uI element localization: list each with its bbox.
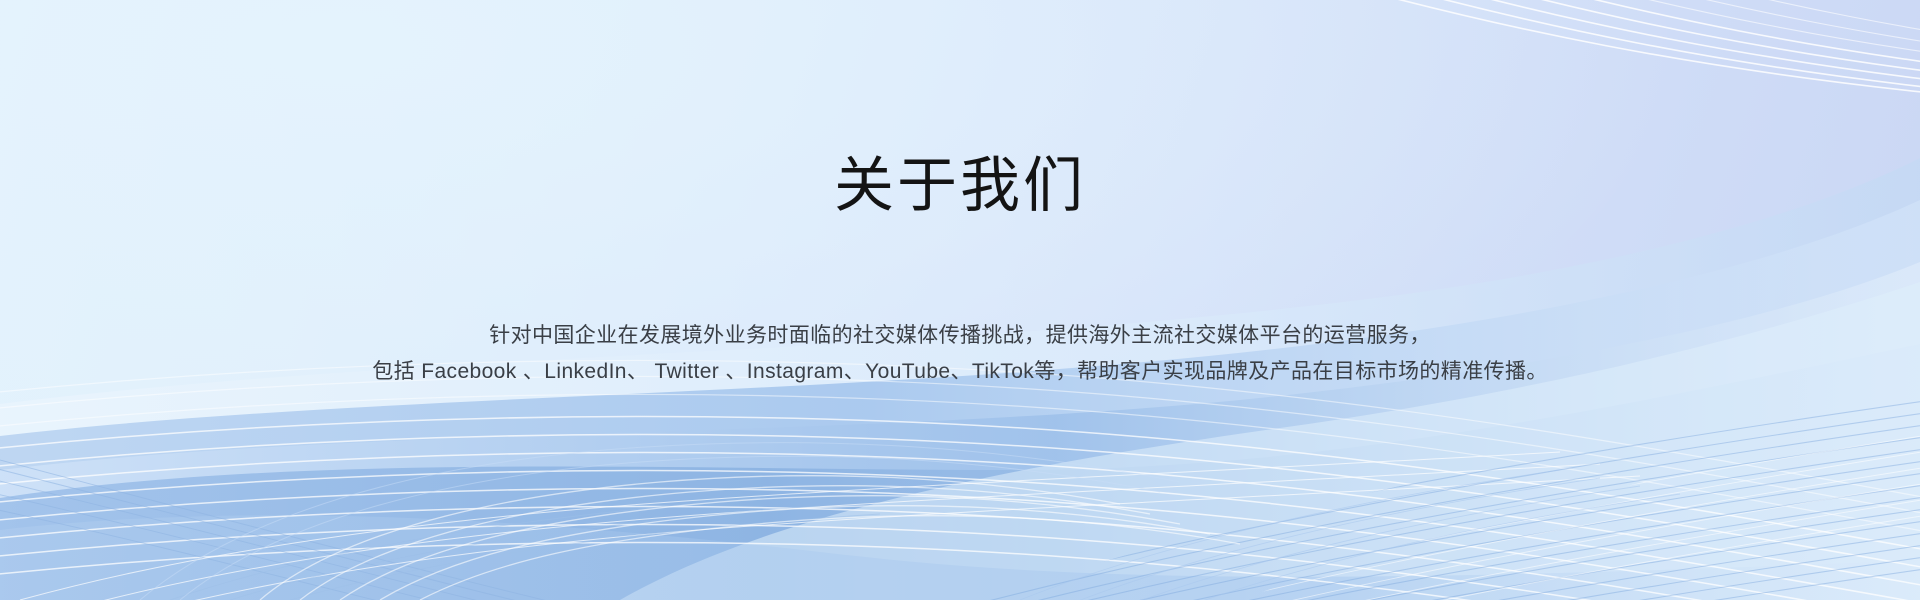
about-us-hero-banner: 关于我们 针对中国企业在发展境外业务时面临的社交媒体传播挑战，提供海外主流社交媒… xyxy=(0,0,1920,600)
centre-radiating-arcs-decoration xyxy=(0,0,1920,600)
